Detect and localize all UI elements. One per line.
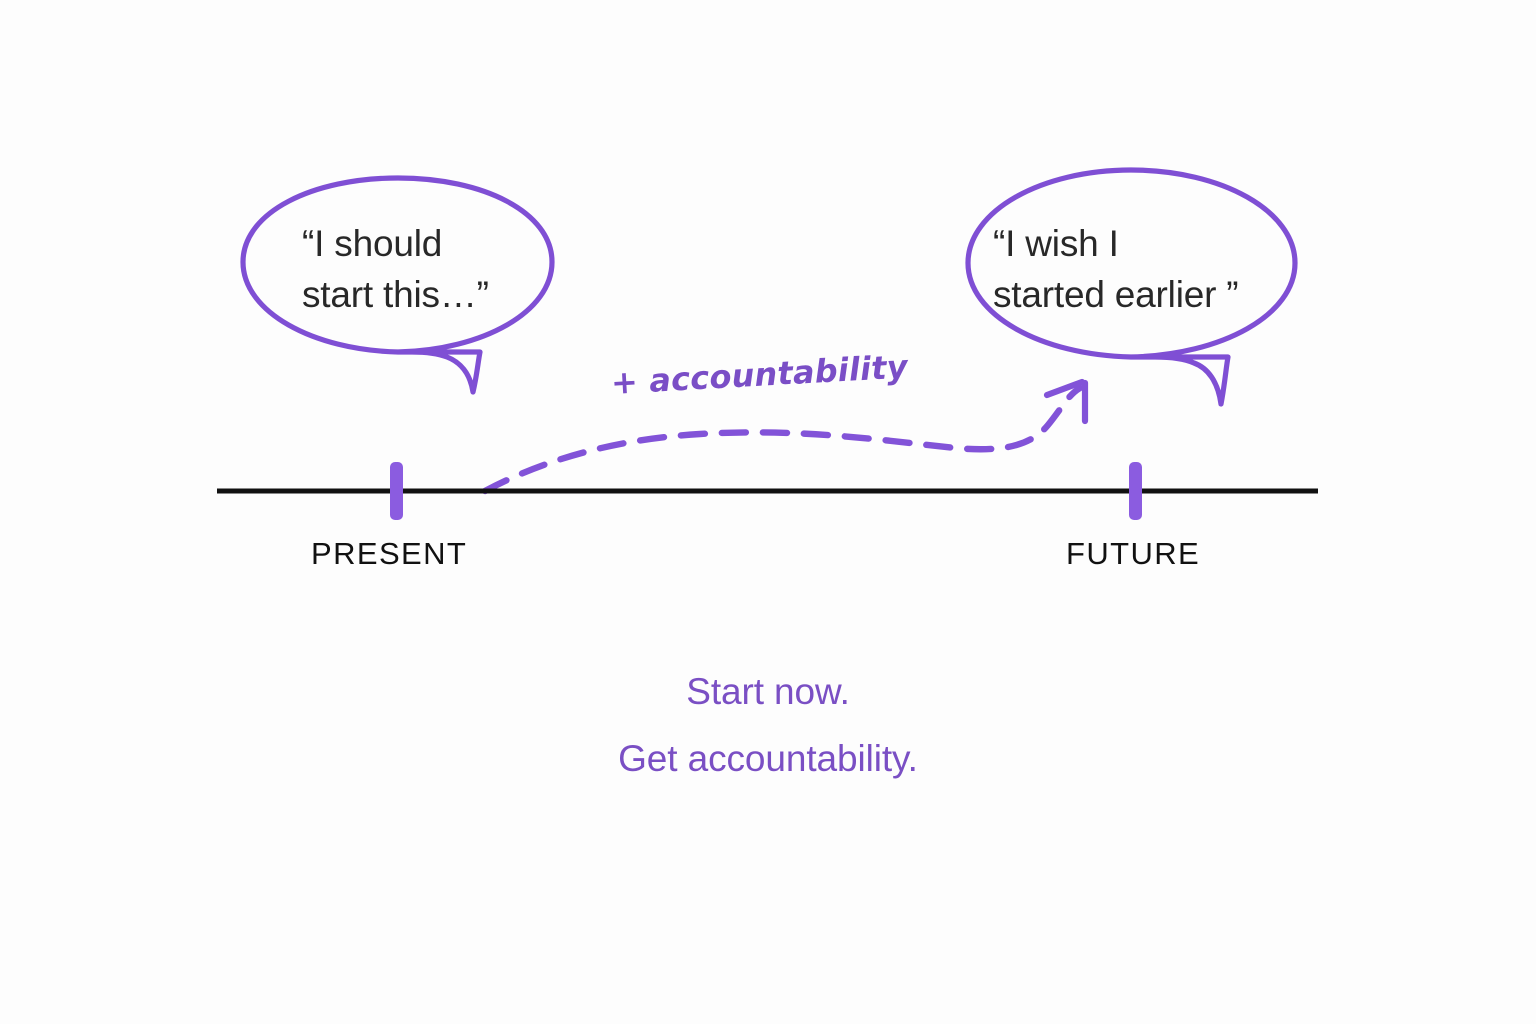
timeline-axis (217, 462, 1318, 520)
tagline: Start now. Get accountability. (0, 658, 1536, 792)
timeline-tick-present (390, 462, 403, 520)
tagline-line-1: Start now. (0, 658, 1536, 725)
speech-bubble-future-line-2: started earlier ” (993, 269, 1238, 320)
speech-bubble-present-line-1: “I should (302, 218, 489, 269)
speech-bubble-future-text: “I wish I started earlier ” (993, 218, 1238, 320)
accountability-arrow (485, 382, 1085, 491)
accountability-arrow-curve (485, 388, 1080, 491)
speech-bubble-present-text: “I should start this…” (302, 218, 489, 320)
timeline-label-present: PRESENT (311, 536, 467, 572)
timeline-tick-future (1129, 462, 1142, 520)
diagram-canvas (0, 0, 1536, 1024)
speech-bubble-present-line-2: start this…” (302, 269, 489, 320)
speech-bubble-future-line-1: “I wish I (993, 218, 1238, 269)
timeline-label-future: FUTURE (1066, 536, 1200, 572)
tagline-line-2: Get accountability. (0, 725, 1536, 792)
